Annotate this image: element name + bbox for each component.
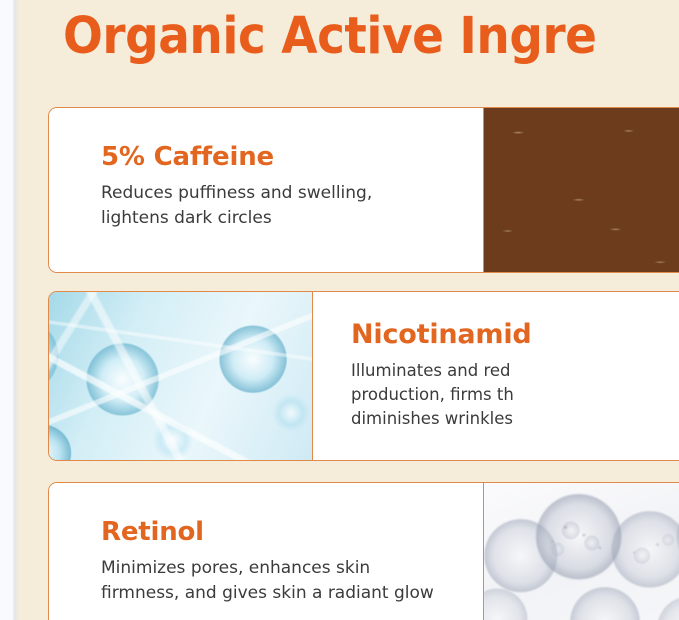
ingredient-heading-caffeine: 5% Caffeine	[101, 142, 483, 172]
ingredient-image-caffeine	[483, 108, 679, 272]
ingredient-card-retinol[interactable]: Retinol Minimizes pores, enhances skin f…	[48, 482, 679, 620]
page-root: Organic Active Ingre 5% Caffeine Reduces…	[0, 0, 679, 620]
ingredient-description-nicotinamide: Illuminates and red production, firms th…	[351, 359, 679, 431]
ingredient-card-text: Nicotinamid Illuminates and red producti…	[313, 292, 679, 460]
ingredient-heading-retinol: Retinol	[101, 517, 483, 547]
content-sheet: Organic Active Ingre 5% Caffeine Reduces…	[19, 0, 679, 620]
page-title: Organic Active Ingre	[63, 2, 679, 72]
ingredient-card-caffeine[interactable]: 5% Caffeine Reduces puffiness and swelli…	[48, 107, 679, 273]
ingredient-heading-nicotinamide: Nicotinamid	[351, 320, 679, 350]
page-left-seam	[13, 0, 19, 620]
molecule-structure-photo	[48, 292, 312, 460]
ingredient-card-nicotinamide[interactable]: Nicotinamid Illuminates and red producti…	[48, 291, 679, 461]
page-left-gutter	[0, 0, 13, 620]
coffee-beans-photo	[484, 108, 679, 272]
ingredient-image-nicotinamide	[48, 292, 313, 460]
ingredient-card-text: Retinol Minimizes pores, enhances skin f…	[49, 483, 483, 620]
bubbles-cells-photo	[484, 483, 679, 620]
ingredient-description-retinol: Minimizes pores, enhances skin firmness,…	[101, 556, 483, 606]
ingredient-card-text: 5% Caffeine Reduces puffiness and swelli…	[49, 108, 483, 272]
ingredient-description-caffeine: Reduces puffiness and swelling, lightens…	[101, 181, 483, 231]
ingredient-image-retinol	[483, 483, 679, 620]
